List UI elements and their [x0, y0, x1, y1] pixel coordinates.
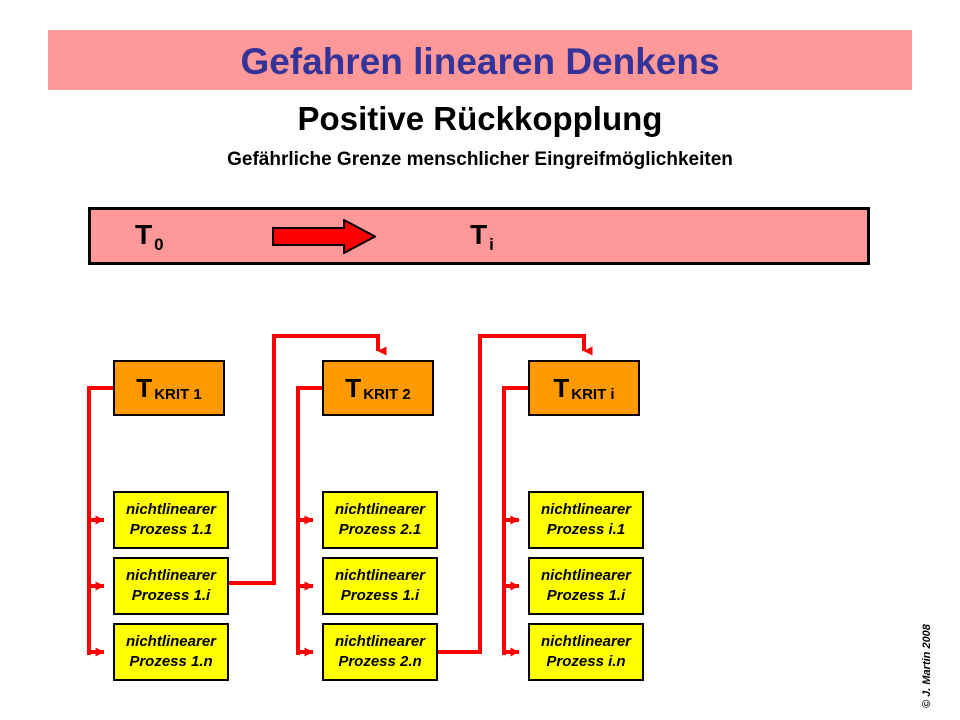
process-box-2-1[interactable]: nichtlinearer Prozess 2.1 [322, 491, 438, 549]
process-box-2-2-line2: Prozess 1.i [341, 586, 419, 606]
process-box-1-1-line2: Prozess 1.1 [130, 520, 213, 540]
krit-box-1-subscript: KRIT 1 [152, 386, 202, 403]
timeline-end-subscript: i [487, 235, 494, 254]
krit-box-1[interactable]: TKRIT 1 [113, 360, 225, 416]
krit-box-3[interactable]: TKRIT i [528, 360, 640, 416]
process-box-3-2-line2: Prozess 1.i [547, 586, 625, 606]
process-box-3-2-line1: nichtlinearer [541, 566, 631, 586]
process-box-1-2-line1: nichtlinearer [126, 566, 216, 586]
krit-box-2-main: T [345, 373, 361, 404]
process-box-1-1-line1: nichtlinearer [126, 500, 216, 520]
subtitle: Positive Rückkopplung [0, 100, 960, 138]
process-box-2-2[interactable]: nichtlinearer Prozess 1.i [322, 557, 438, 615]
bus-column-3 [504, 388, 528, 655]
process-box-3-1-line2: Prozess i.1 [547, 520, 625, 540]
process-box-3-2[interactable]: nichtlinearer Prozess 1.i [528, 557, 644, 615]
timeline-end-label: Ti [470, 219, 494, 251]
process-box-1-3-line2: Prozess 1.n [129, 652, 212, 672]
krit-box-2[interactable]: TKRIT 2 [322, 360, 434, 416]
copyright-notice: © J. Martin 2008 [921, 624, 933, 708]
process-box-2-3-line2: Prozess 2.n [338, 652, 421, 672]
process-box-1-1[interactable]: nichtlinearer Prozess 1.1 [113, 491, 229, 549]
right-block-arrow-icon [272, 219, 376, 254]
process-box-3-3-line1: nichtlinearer [541, 632, 631, 652]
process-box-2-2-line1: nichtlinearer [335, 566, 425, 586]
page-title: Gefahren linearen Denkens [48, 38, 912, 86]
process-box-3-1[interactable]: nichtlinearer Prozess i.1 [528, 491, 644, 549]
krit-box-3-subscript: KRIT i [569, 386, 614, 403]
process-box-1-3-line1: nichtlinearer [126, 632, 216, 652]
timeline-end-main: T [470, 219, 487, 250]
process-box-1-2-line2: Prozess 1.i [132, 586, 210, 606]
process-box-2-3[interactable]: nichtlinearer Prozess 2.n [322, 623, 438, 681]
sub-subtitle: Gefährliche Grenze menschlicher Eingreif… [0, 149, 960, 171]
slide-canvas: Gefahren linearen Denkens Positive Rückk… [0, 0, 960, 720]
process-box-2-1-line1: nichtlinearer [335, 500, 425, 520]
bus-column-1 [89, 388, 113, 655]
process-box-2-1-line2: Prozess 2.1 [339, 520, 422, 540]
process-box-3-3-line2: Prozess i.n [546, 652, 625, 672]
krit-box-3-main: T [553, 373, 569, 404]
bus-column-2 [298, 388, 322, 655]
process-box-1-3[interactable]: nichtlinearer Prozess 1.n [113, 623, 229, 681]
process-box-3-1-line1: nichtlinearer [541, 500, 631, 520]
timeline-start-main: T [135, 219, 152, 250]
krit-box-2-subscript: KRIT 2 [361, 386, 411, 403]
process-box-3-3[interactable]: nichtlinearer Prozess i.n [528, 623, 644, 681]
process-box-1-2[interactable]: nichtlinearer Prozess 1.i [113, 557, 229, 615]
process-box-2-3-line1: nichtlinearer [335, 632, 425, 652]
timeline-start-label: T0 [135, 219, 164, 251]
krit-box-1-main: T [136, 373, 152, 404]
timeline-start-subscript: 0 [152, 235, 163, 254]
